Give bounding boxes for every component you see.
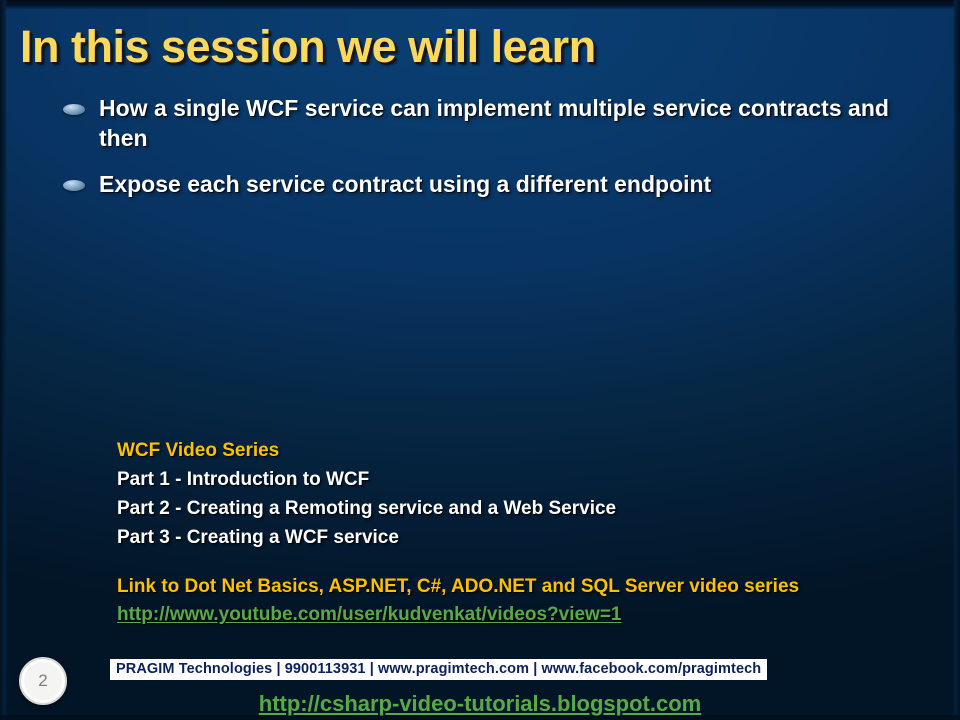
video-series-block: WCF Video Series Part 1 - Introduction t… <box>117 437 917 630</box>
page-number-label: 2 <box>38 671 47 691</box>
footer-contact-bar: PRAGIM Technologies | 9900113931 | www.p… <box>110 659 767 680</box>
video-series-heading: WCF Video Series <box>117 437 917 466</box>
slide-content: In this session we will learn How a sing… <box>0 0 960 720</box>
youtube-link-row: http://www.youtube.com/user/kudvenkat/vi… <box>117 601 917 630</box>
slide-title: In this session we will learn <box>20 21 920 73</box>
youtube-link-label: Link to Dot Net Basics, ASP.NET, C#, ADO… <box>117 573 917 602</box>
list-item: Expose each service contract using a dif… <box>63 169 935 199</box>
bullet-text: Expose each service contract using a dif… <box>99 169 711 199</box>
list-item: How a single WCF service can implement m… <box>63 93 935 154</box>
bullet-text: How a single WCF service can implement m… <box>99 93 919 154</box>
youtube-link[interactable]: http://www.youtube.com/user/kudvenkat/vi… <box>117 604 622 625</box>
oval-bullet-icon <box>63 180 85 191</box>
bullet-list: How a single WCF service can implement m… <box>63 93 935 214</box>
oval-bullet-icon <box>63 104 85 115</box>
slide-canvas: In this session we will learn How a sing… <box>0 0 960 720</box>
video-series-part-1: Part 1 - Introduction to WCF <box>117 466 917 495</box>
blog-link[interactable]: http://csharp-video-tutorials.blogspot.c… <box>0 691 960 717</box>
video-series-part-2: Part 2 - Creating a Remoting service and… <box>117 495 917 524</box>
video-series-part-3: Part 3 - Creating a WCF service <box>117 524 917 553</box>
spacer <box>117 553 917 573</box>
